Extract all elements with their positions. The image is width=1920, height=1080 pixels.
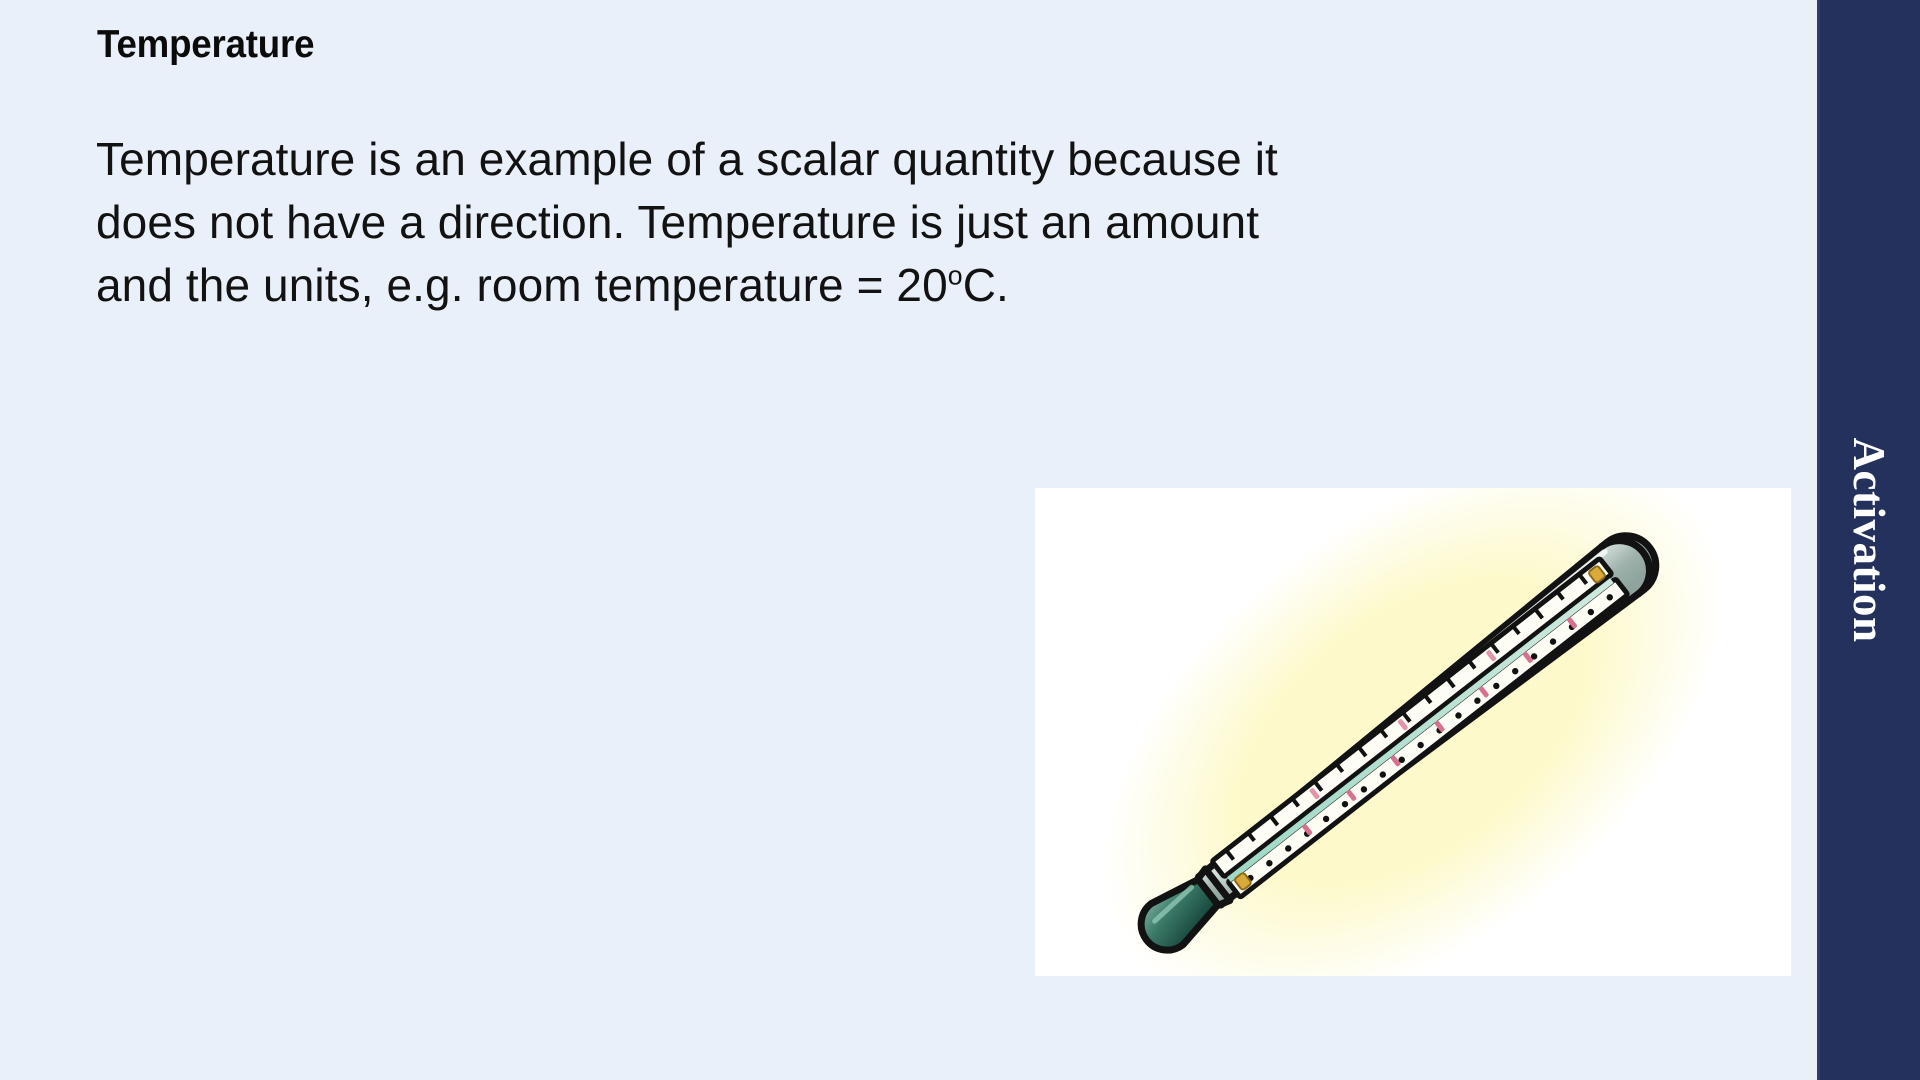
thermometer-illustration bbox=[1035, 488, 1791, 976]
body-paragraph: Temperature is an example of a scalar qu… bbox=[96, 128, 1736, 317]
body-line-3: and the units, e.g. room temperature = 2… bbox=[96, 254, 1736, 317]
body-line-2: does not have a direction. Temperature i… bbox=[96, 191, 1736, 254]
page-title: Temperature bbox=[97, 22, 314, 68]
slide: Temperature Temperature is an example of… bbox=[0, 0, 1920, 1080]
body-line-1: Temperature is an example of a scalar qu… bbox=[96, 128, 1736, 191]
degree-symbol: o bbox=[948, 261, 963, 291]
side-band-label: Activation bbox=[1843, 438, 1895, 643]
side-band-edge bbox=[1817, 0, 1820, 1080]
body-line-3-head: and the units, e.g. room temperature = 2… bbox=[96, 259, 948, 311]
side-band: Activation bbox=[1817, 0, 1920, 1080]
body-line-3-tail: C. bbox=[963, 259, 1009, 311]
thermometer-image bbox=[1035, 488, 1791, 976]
